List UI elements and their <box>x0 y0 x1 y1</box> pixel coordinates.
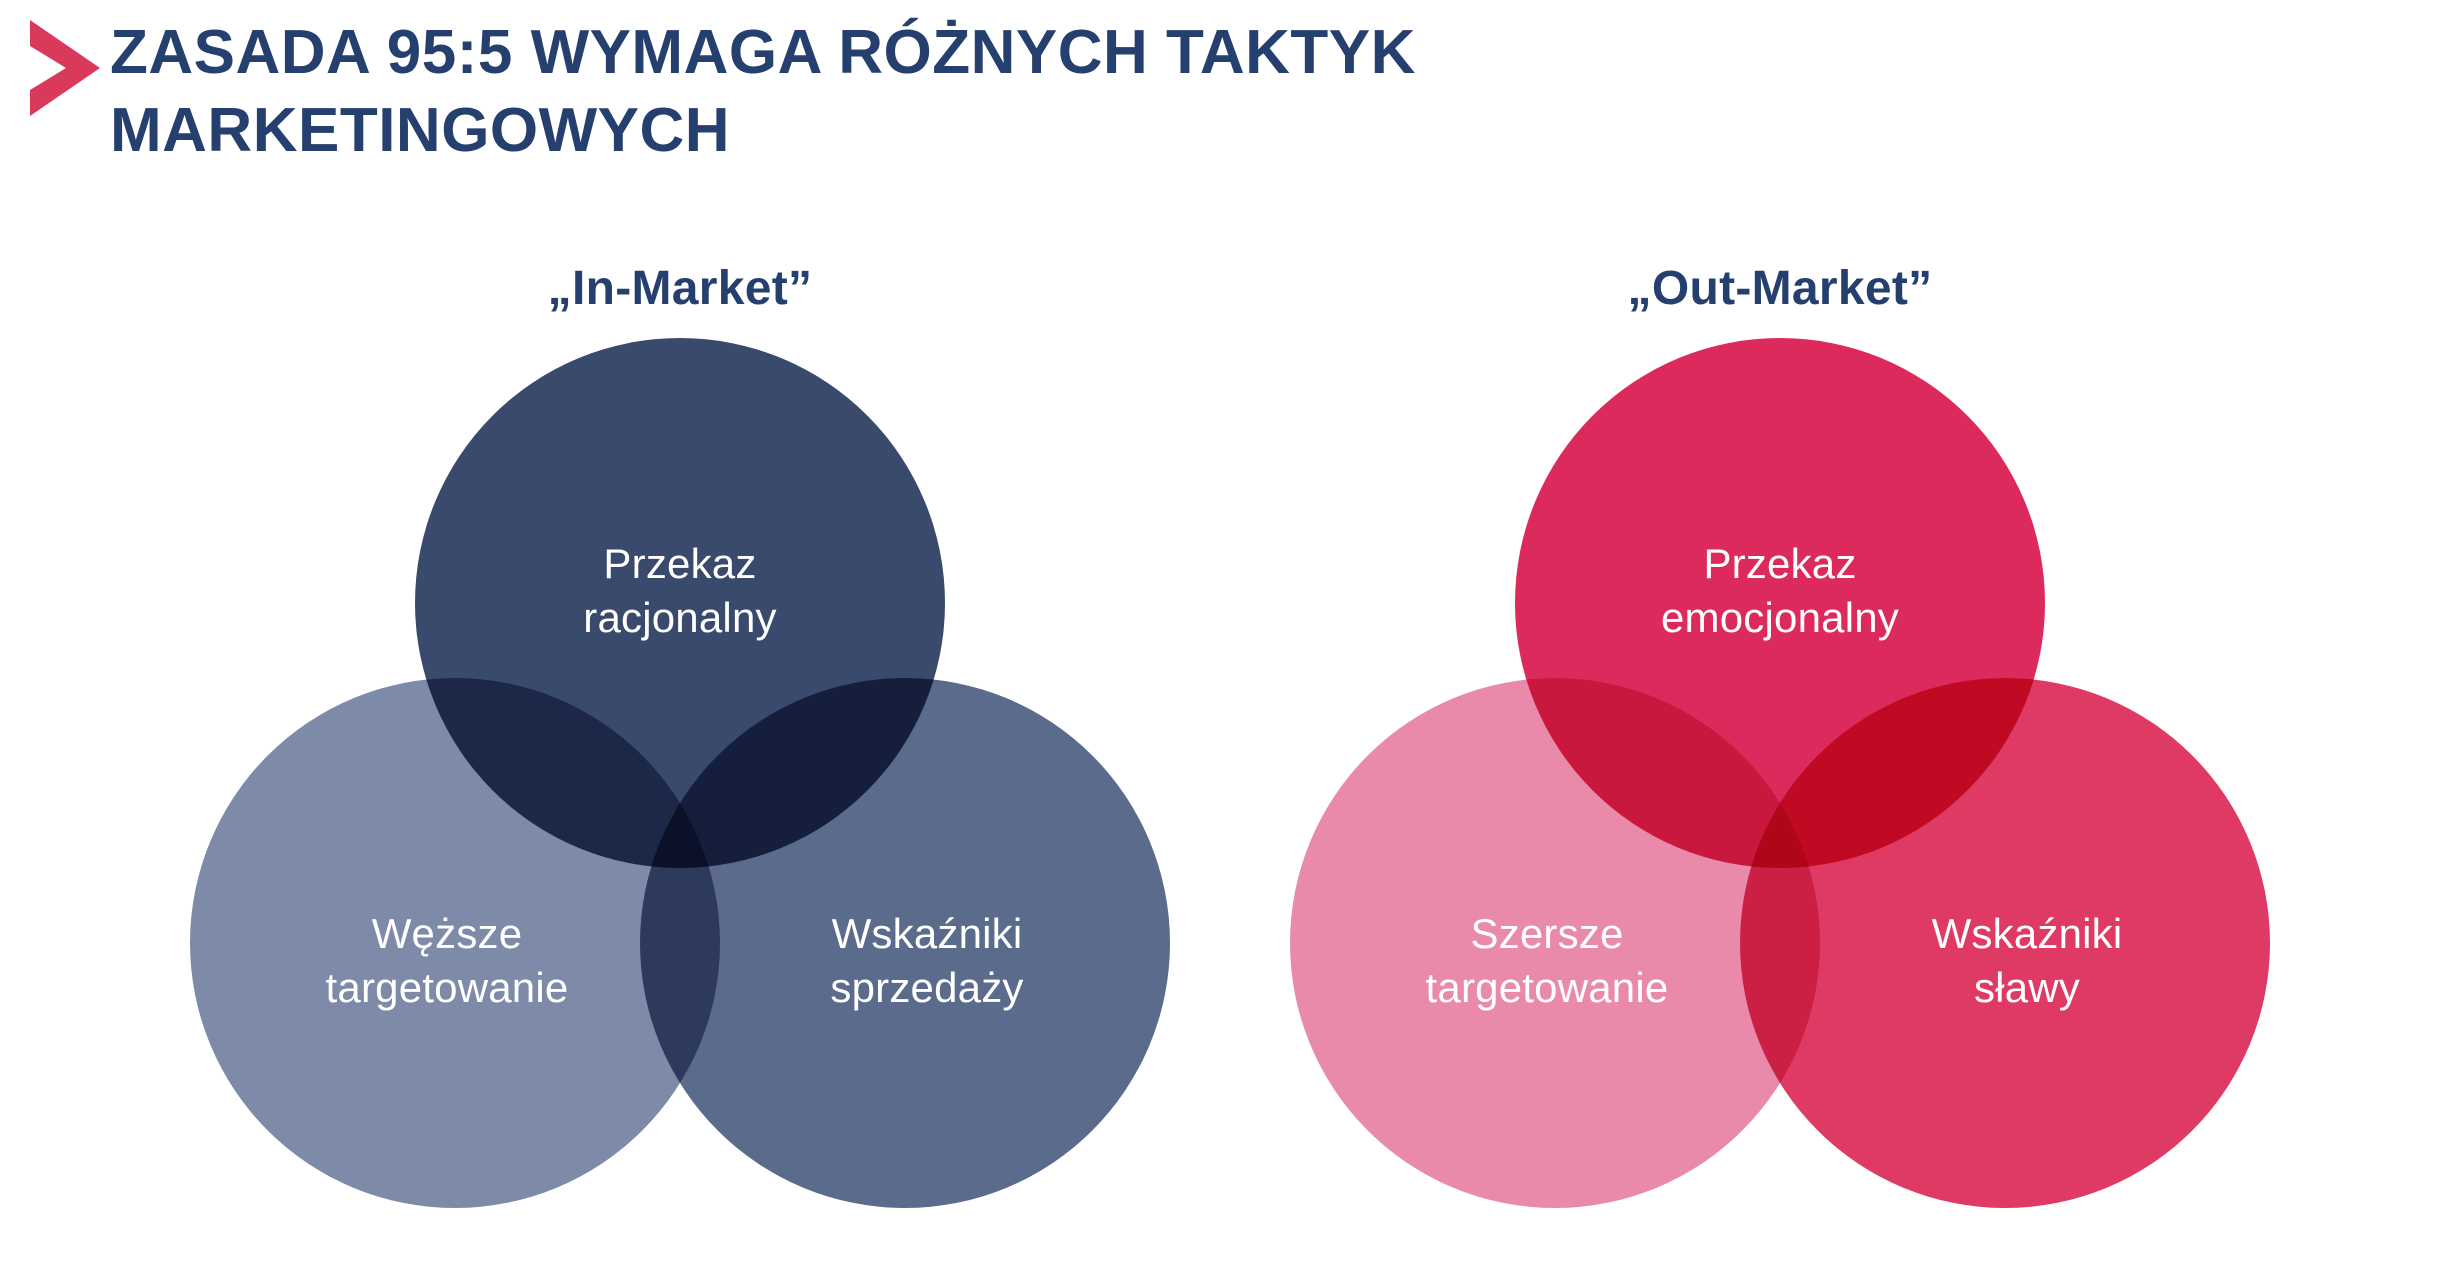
page-header: ZASADA 95:5 WYMAGA RÓŻNYCH TAKTYK MARKET… <box>0 0 2456 230</box>
page-title: ZASADA 95:5 WYMAGA RÓŻNYCH TAKTYK MARKET… <box>110 14 2210 170</box>
venn-circle-label: Szersze targetowanie <box>1426 907 1669 1015</box>
venn-circle-label: Przekaz racjonalny <box>583 537 776 645</box>
venn-stage-in-market: Przekaz racjonalny Węższe targetowanie W… <box>190 338 1170 1208</box>
venn-circle-label: Wskaźniki sprzedaży <box>830 907 1023 1015</box>
venn-circle-przekaz-racjonalny[interactable]: Przekaz racjonalny <box>415 338 945 868</box>
venn-group-in-market: „In-Market” Przekaz racjonalny Węższe ta… <box>190 260 1170 1210</box>
venn-circle-label: Węższe targetowanie <box>326 907 569 1015</box>
venn-group-label-out-market: „Out-Market” <box>1290 260 2270 318</box>
venn-group-label-in-market: „In-Market” <box>190 260 1170 318</box>
venn-circle-label: Wskaźniki sławy <box>1932 907 2123 1015</box>
venn-group-out-market: „Out-Market” Przekaz emocjonalny Szersze… <box>1290 260 2270 1210</box>
venn-circle-label: Przekaz emocjonalny <box>1661 537 1899 645</box>
page-title-line-1: ZASADA 95:5 WYMAGA RÓŻNYCH TAKTYK <box>110 14 2210 92</box>
page-title-line-2: MARKETINGOWYCH <box>110 92 2210 170</box>
venn-stage-out-market: Przekaz emocjonalny Szersze targetowanie… <box>1290 338 2270 1208</box>
venn-circle-przekaz-emocjonalny[interactable]: Przekaz emocjonalny <box>1515 338 2045 868</box>
chevron-right-icon <box>22 18 108 118</box>
